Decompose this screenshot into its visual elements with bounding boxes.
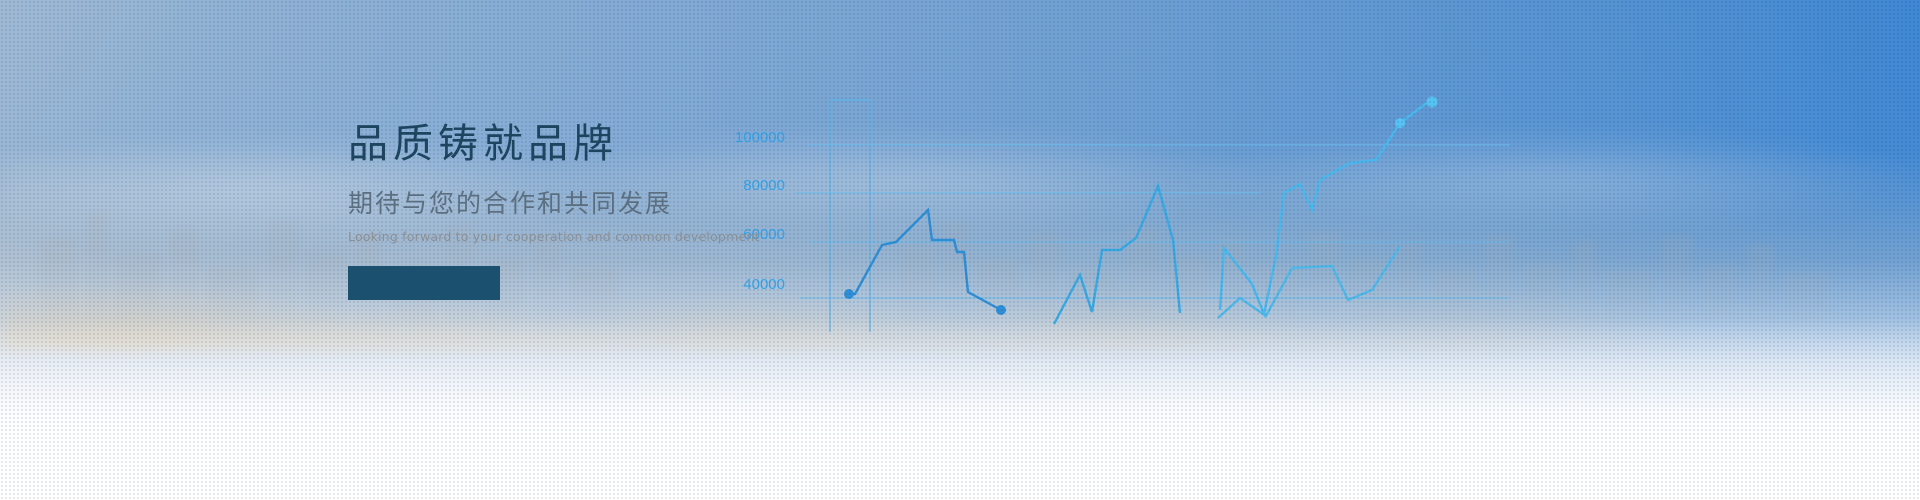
hero-copy: 品质铸就品牌 期待与您的合作和共同发展 Looking forward to y… xyxy=(348,122,808,300)
halftone-texture-overlay xyxy=(0,0,1920,500)
hero-banner: 100000 80000 60000 40000 xyxy=(0,0,1920,500)
page-title: 品质铸就品牌 xyxy=(348,122,808,166)
hero-subtitle-cn: 期待与您的合作和共同发展 xyxy=(348,190,808,219)
hero-subtitle-en: Looking forward to your cooperation and … xyxy=(348,229,808,244)
cta-button[interactable] xyxy=(348,266,500,300)
